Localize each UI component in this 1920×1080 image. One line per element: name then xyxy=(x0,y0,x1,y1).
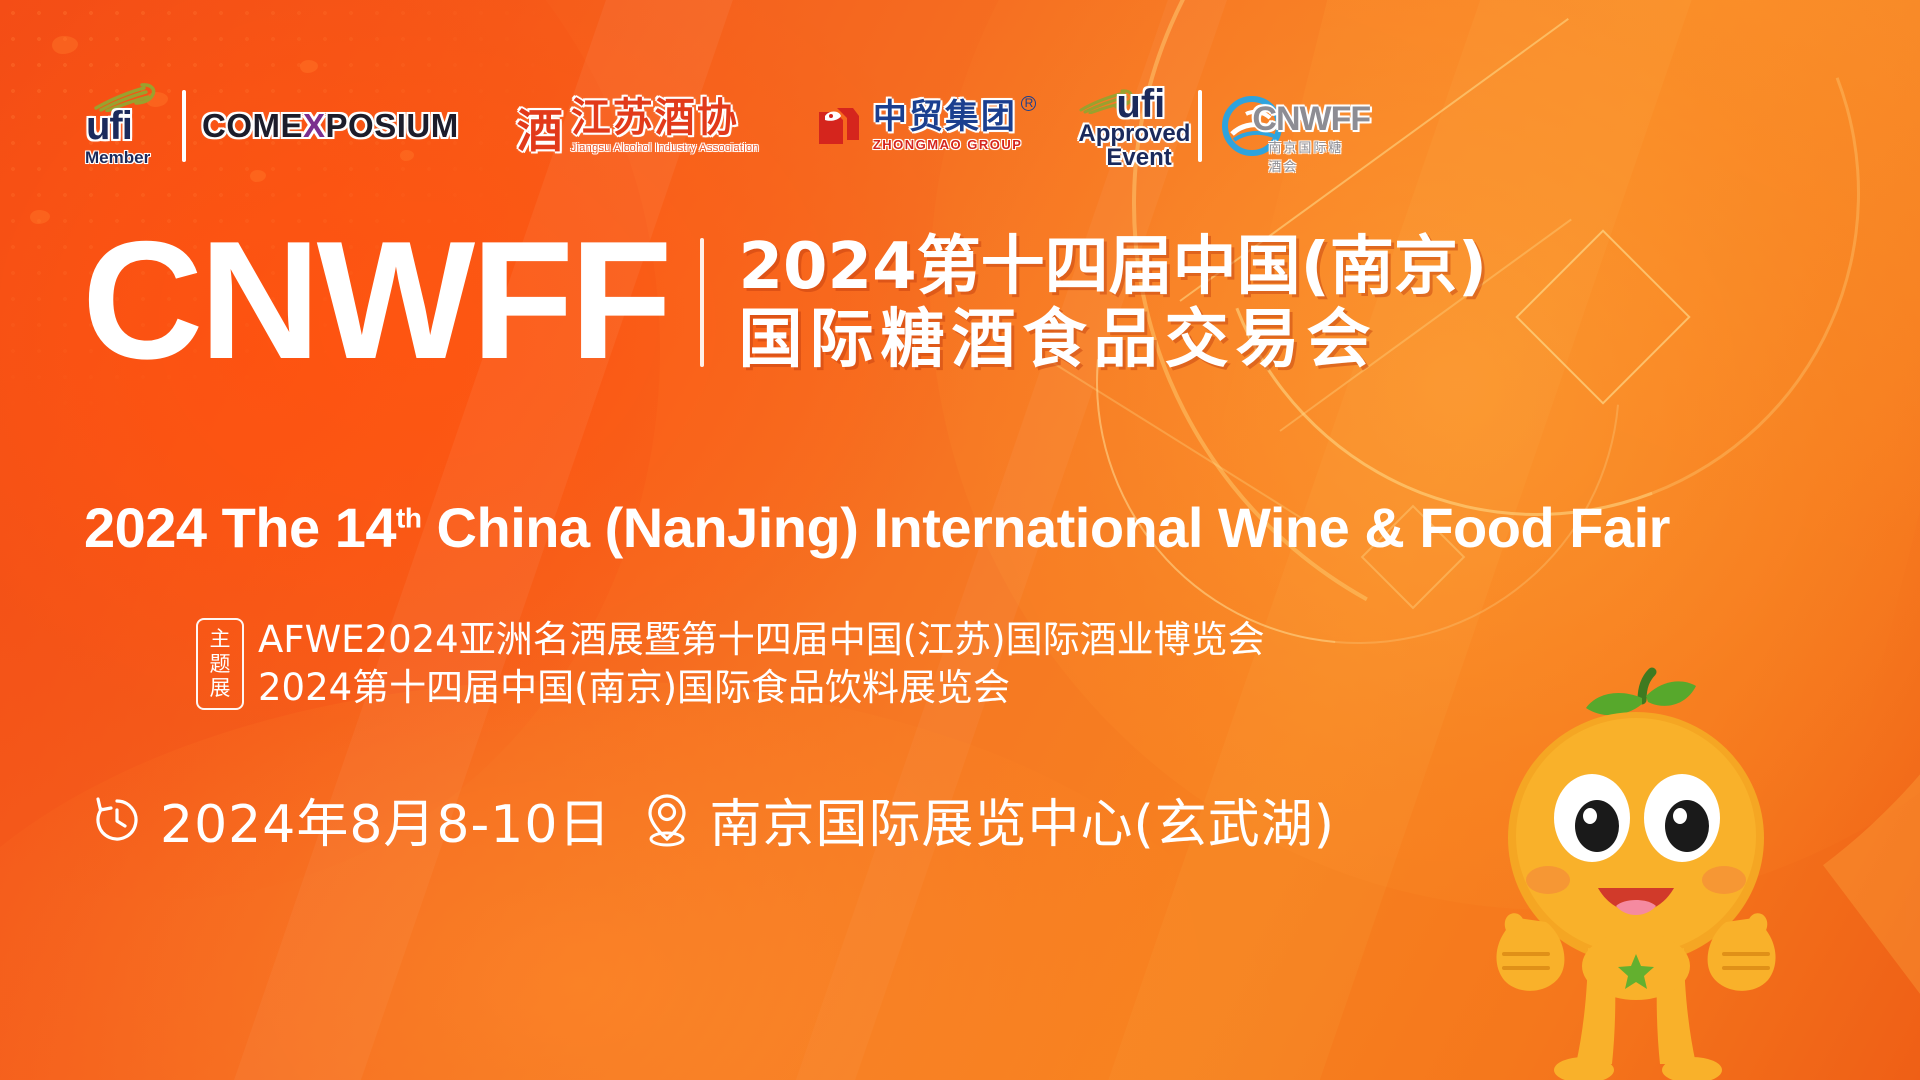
logo-ufi-member: ufi Member xyxy=(78,78,166,174)
logo-zhongmao-group: 中贸集团 ZHONGMAO GROUP R xyxy=(813,78,1023,174)
themed-exhibition-list: AFWE2024亚洲名酒展暨第十四届中国(江苏)国际酒业博览会 2024第十四届… xyxy=(258,618,1265,710)
confetti-3 xyxy=(300,60,318,73)
jiangsu-english: Jiangsu Alcohol Industry Association xyxy=(571,142,759,154)
bottom-glow xyxy=(0,680,1280,1080)
zhongmao-horse-icon xyxy=(813,100,865,152)
logo-strip: ufi Member COMEXPOSIUM 酒 江苏酒协 Jiangsu Al… xyxy=(78,78,1348,174)
registered-mark: R xyxy=(1021,96,1036,111)
comexposium-part2: POSIUM xyxy=(326,107,459,144)
confetti-5 xyxy=(30,210,50,224)
themed-badge: 主 题 展 xyxy=(196,618,244,710)
headline-block: CNWFF 2024第十四届中国(南京) 国际糖酒食品交易会 xyxy=(82,228,1487,373)
themed-exhibition-item: AFWE2024亚洲名酒展暨第十四届中国(江苏)国际酒业博览会 xyxy=(258,618,1265,662)
location-pin-icon xyxy=(641,792,693,848)
chinese-title-line-2: 国际糖酒食品交易会 xyxy=(738,307,1487,374)
ufi-wordmark: ufi xyxy=(86,106,132,146)
event-poster: ufi Member COMEXPOSIUM 酒 江苏酒协 Jiangsu Al… xyxy=(0,0,1920,1080)
ufi-member-label: Member xyxy=(85,148,150,168)
event-venue-group: 南京国际展览中心(玄武湖) xyxy=(641,782,1335,857)
event-date: 2024年8月8-10日 xyxy=(160,782,611,857)
english-title-suffix: China (NanJing) International Wine & Foo… xyxy=(421,496,1669,559)
themed-exhibition-item: 2024第十四届中国(南京)国际食品饮料展览会 xyxy=(258,666,1265,710)
english-title-prefix: 2024 The 14 xyxy=(84,496,396,559)
logo-comexposium: COMEXPOSIUM xyxy=(202,78,459,174)
chinese-title: 2024第十四届中国(南京) 国际糖酒食品交易会 xyxy=(738,228,1487,373)
cnwff-badge-sub: 南京国际糖酒会 xyxy=(1268,137,1348,175)
ufi-approved-wordmark: ufi xyxy=(1116,84,1165,124)
themed-badge-char-1: 主 xyxy=(210,628,231,651)
zhongmao-english: ZHONGMAO GROUP xyxy=(873,137,1023,152)
chinese-title-line-1: 2024第十四届中国(南京) xyxy=(738,234,1487,301)
logo-divider-2 xyxy=(1198,90,1202,162)
jiangsu-name: 江苏酒协 xyxy=(571,98,759,138)
logo-jiangsu-association: 酒 江苏酒协 Jiangsu Alcohol Industry Associat… xyxy=(517,78,759,174)
confetti-1 xyxy=(52,36,78,54)
orange-mascot xyxy=(1456,666,1816,1080)
english-title-ordinal: th xyxy=(396,502,421,533)
comexposium-part1: COME xyxy=(202,107,303,144)
event-venue: 南京国际展览中心(玄武湖) xyxy=(709,782,1335,857)
logo-ufi-approved-event: ufi Approved Event xyxy=(1078,78,1182,174)
themed-badge-char-2: 题 xyxy=(210,653,231,676)
logo-gap-1 xyxy=(475,90,501,162)
page-title: CNWFF xyxy=(82,228,668,372)
logo-gap-2 xyxy=(775,90,797,162)
english-title: 2024 The 14th China (NanJing) Internatio… xyxy=(84,495,1670,560)
themed-exhibitions: 主 题 展 AFWE2024亚洲名酒展暨第十四届中国(江苏)国际酒业博览会 20… xyxy=(196,618,1265,710)
title-divider xyxy=(700,238,704,367)
jiangsu-seal-glyph: 酒 xyxy=(517,108,563,154)
event-meta: 2024年8月8-10日 南京国际展览中心(玄武湖) xyxy=(90,782,1335,857)
logo-gap-3 xyxy=(1038,90,1062,162)
zhongmao-name: 中贸集团 xyxy=(873,100,1023,134)
logo-divider-1 xyxy=(182,90,186,162)
themed-badge-char-3: 展 xyxy=(210,677,231,700)
cnwff-badge-word: CNWFF xyxy=(1252,102,1370,136)
ufi-approved-line2: Approved xyxy=(1078,122,1190,146)
comexposium-x: X xyxy=(303,107,326,144)
logo-cnwff-badge: CNWFF 南京国际糖酒会 xyxy=(1218,78,1348,174)
clock-icon xyxy=(90,793,144,847)
event-date-group: 2024年8月8-10日 xyxy=(90,782,611,857)
diamond-outline-1 xyxy=(1515,229,1690,404)
ufi-approved-line3: Event xyxy=(1106,146,1171,170)
